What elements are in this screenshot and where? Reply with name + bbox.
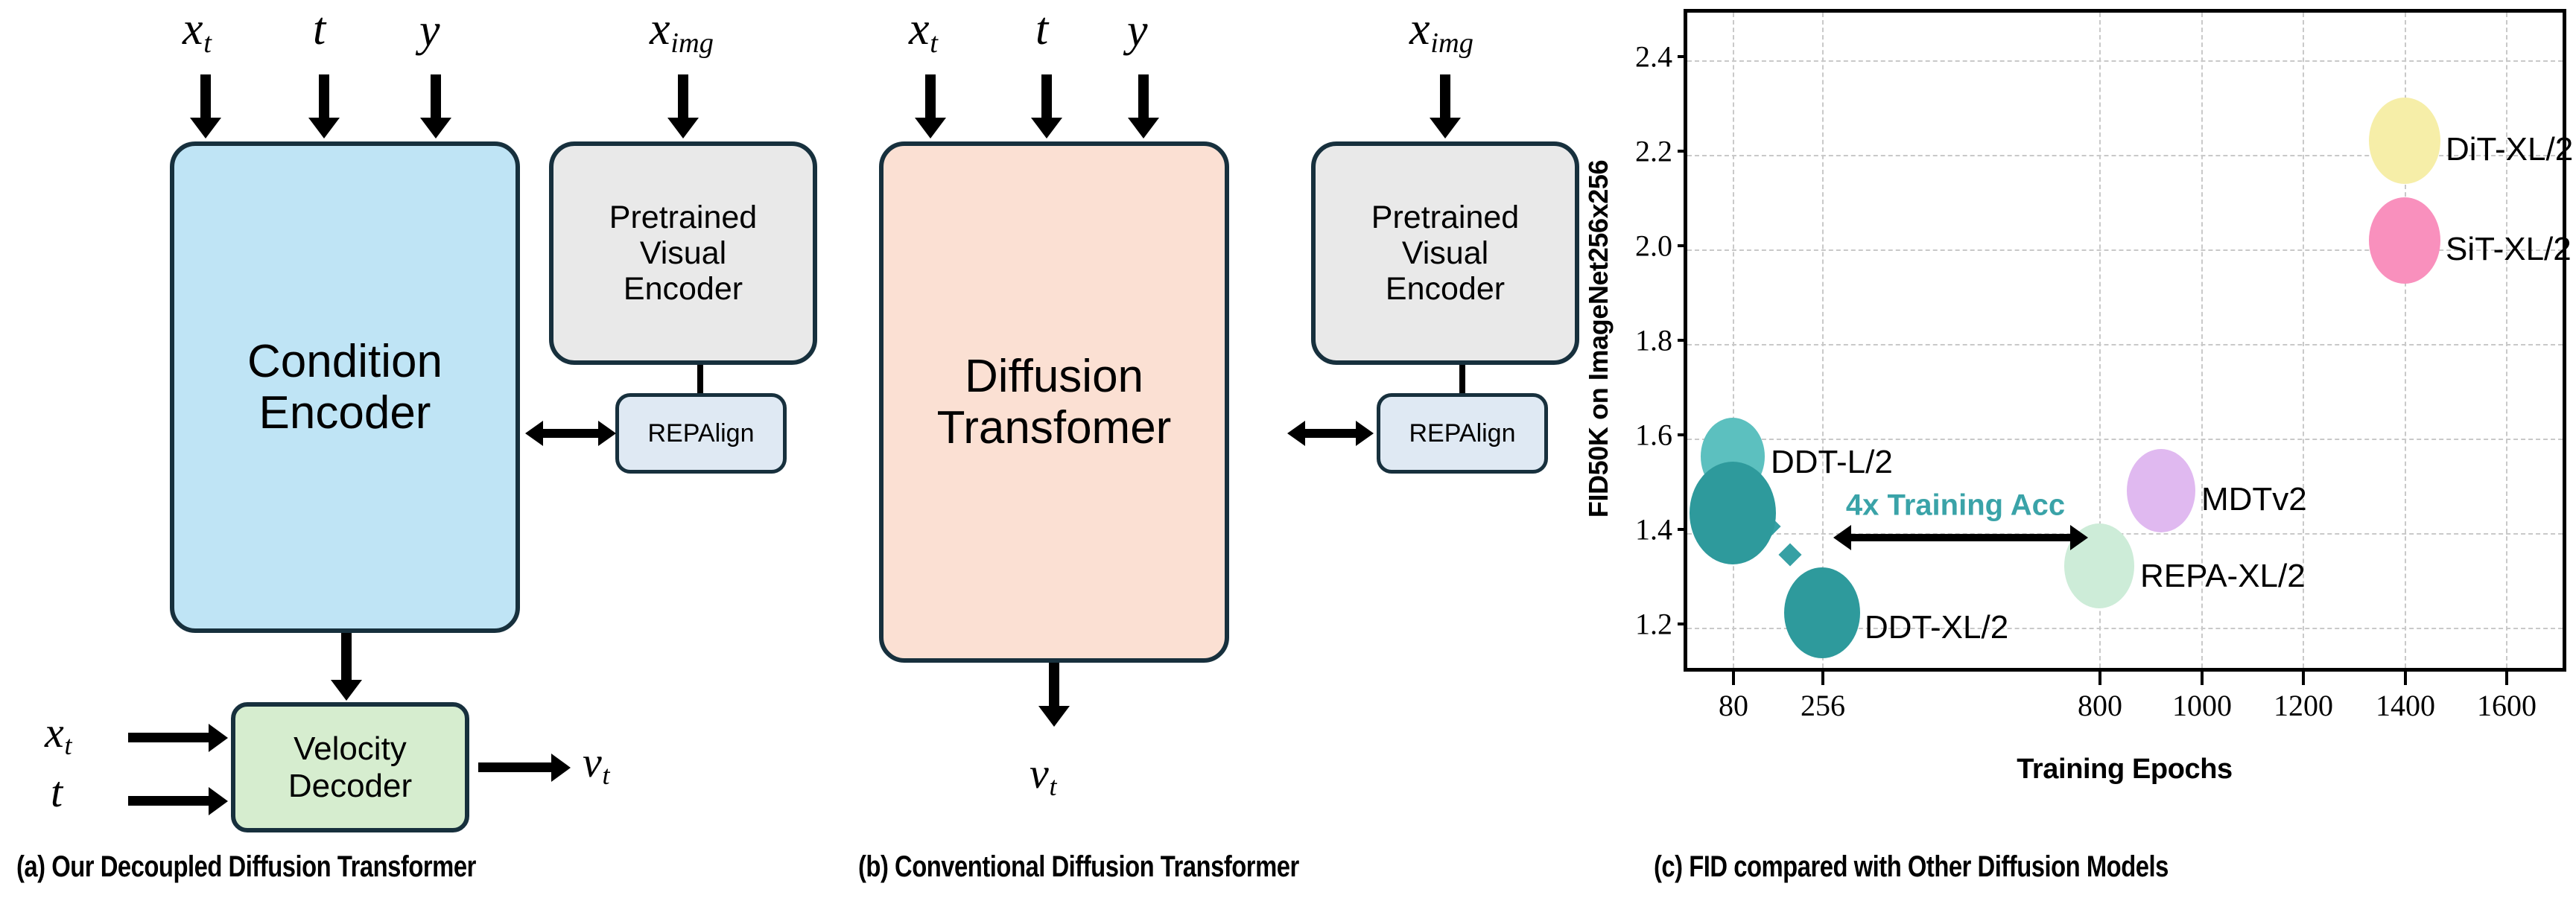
chart-gridline-v-80 <box>1733 13 1734 668</box>
math-label-t-b: t <box>1035 6 1048 52</box>
chart-xtick-mark-800 <box>2098 672 2101 685</box>
chart-ytick-label-1.2: 1.2 <box>1594 607 1672 642</box>
condition-encoder-label-line1: Condition <box>247 336 442 387</box>
chart-xtick-mark-1000 <box>2201 672 2204 685</box>
point-label-repa-xl2: REPA-XL/2 <box>2140 558 2306 595</box>
math-label-xt-a: xt <box>183 6 211 52</box>
connector-visual-encoder-repalign-b <box>1459 365 1465 393</box>
arrow-into-condition-encoder-t <box>319 74 329 119</box>
panel-a: xt t y ximg Condition Encoder Pretrained <box>0 0 842 898</box>
arrow-xt-to-velocity-decoder <box>128 733 210 742</box>
chart-gridline-h-1.6 <box>1687 439 2563 440</box>
chart-gridline-h-2.4 <box>1687 60 2563 62</box>
repalign-label-a: REPAlign <box>648 419 755 448</box>
math-label-vt-b: vt <box>1030 752 1056 795</box>
chart-xtick-mark-256 <box>1821 672 1824 685</box>
arrow-into-condition-encoder-y <box>431 74 441 119</box>
pretrained-visual-encoder-block-b[interactable]: Pretrained Visual Encoder <box>1311 141 1579 365</box>
visual-encoder-label-line2: Visual <box>609 235 757 271</box>
math-label-y-a: y <box>419 7 440 54</box>
caption-panel-b: (b) Conventional Diffusion Transformer <box>858 850 1299 884</box>
point-label-dit-xl2: DiT-XL/2 <box>2446 131 2573 168</box>
annotation-double-arrow <box>1850 534 2072 541</box>
chart-gridline-v-1600 <box>2506 13 2507 668</box>
bubble-ddt-xl2[interactable] <box>1784 567 1860 658</box>
chart-ytick-label-2.0: 2.0 <box>1594 229 1672 264</box>
visual-encoder-label-line3-b: Encoder <box>1371 271 1519 307</box>
bubble-dit-xl2[interactable] <box>2369 98 2440 184</box>
chart-ytick-label-1.8: 1.8 <box>1594 323 1672 358</box>
chart-ytick-label-1.6: 1.6 <box>1594 418 1672 453</box>
caption-panel-a: (a) Our Decoupled Diffusion Transformer <box>16 850 476 884</box>
annotation-4x-training-acc: 4x Training Acc <box>1846 489 2065 523</box>
chart-xtick-mark-1400 <box>2404 672 2407 685</box>
diffusion-transformer-label-line1: Diffusion <box>937 351 1172 402</box>
condition-encoder-label-line2: Encoder <box>247 387 442 439</box>
chart-xtick-label-800: 800 <box>2078 688 2122 723</box>
arrow-t-to-velocity-decoder <box>128 796 210 806</box>
chart-xtick-mark-80 <box>1732 672 1735 685</box>
arrow-into-condition-encoder-xt <box>200 74 211 119</box>
chart-ytick-label-2.4: 2.4 <box>1594 39 1672 74</box>
math-label-vt-a: vt <box>583 741 609 784</box>
chart-xtick-label-1200: 1200 <box>2274 688 2333 723</box>
chart-xtick-label-1600: 1600 <box>2477 688 2537 723</box>
arrow-condition-encoder-repalign <box>542 429 600 438</box>
velocity-decoder-label-line1: Velocity <box>288 730 412 767</box>
repalign-block-b[interactable]: REPAlign <box>1377 393 1548 474</box>
repalign-label-b: REPAlign <box>1409 419 1516 448</box>
point-label-sit-xl2: SiT-XL/2 <box>2446 231 2572 268</box>
condition-encoder-block-a[interactable]: Condition Encoder <box>170 141 520 633</box>
arrow-diffusion-transformer-to-vt <box>1049 663 1059 707</box>
connector-visual-encoder-repalign <box>697 365 703 393</box>
chart-gridline-h-1.4 <box>1687 533 2563 535</box>
visual-encoder-label-line3: Encoder <box>609 271 757 307</box>
math-label-ximg-b: ximg <box>1409 6 1473 52</box>
chart-xtick-label-1400: 1400 <box>2376 688 2435 723</box>
math-label-xt-b: xt <box>909 6 937 52</box>
point-label-ddt-l2: DDT-L/2 <box>1771 444 1893 481</box>
math-label-ximg-a: ximg <box>650 6 713 52</box>
math-label-xt-decoder: xt <box>45 711 72 754</box>
arrow-into-diffusion-transformer-t <box>1041 74 1052 119</box>
chart-x-axis-label: Training Epochs <box>2017 754 2233 786</box>
panel-c: FID50K on ImageNet256x256 Training Epoch… <box>1594 0 2576 827</box>
chart-xtick-label-80: 80 <box>1719 688 1748 723</box>
math-label-y-b: y <box>1127 7 1148 54</box>
pretrained-visual-encoder-block-a[interactable]: Pretrained Visual Encoder <box>549 141 817 365</box>
arrow-into-diffusion-transformer-xt <box>925 74 936 119</box>
point-label-ddt-xl2: DDT-XL/2 <box>1865 609 2008 646</box>
repalign-block-a[interactable]: REPAlign <box>615 393 787 474</box>
visual-encoder-label-line1-b: Pretrained <box>1371 200 1519 235</box>
chart-plot-area: DDT-L/2 DDT-XL/2 REPA-XL/2 MDTv2 DiT-XL/… <box>1684 9 2566 672</box>
chart-xtick-label-1000: 1000 <box>2172 688 2232 723</box>
chart-gridline-h-1.8 <box>1687 344 2563 345</box>
chart-ytick-label-1.4: 1.4 <box>1594 512 1672 547</box>
velocity-decoder-block[interactable]: Velocity Decoder <box>231 702 469 832</box>
velocity-decoder-label-line2: Decoder <box>288 768 412 804</box>
arrow-into-visual-encoder-b <box>1440 74 1450 119</box>
chart-xtick-mark-1600 <box>2505 672 2508 685</box>
bubble-ddt-xl2-80[interactable] <box>1690 462 1776 564</box>
arrow-velocity-decoder-to-vt <box>478 762 553 772</box>
chart-xtick-label-256: 256 <box>1801 688 1845 723</box>
visual-encoder-label-line2-b: Visual <box>1371 235 1519 271</box>
caption-panel-c: (c) FID compared with Other Diffusion Mo… <box>1654 850 2169 884</box>
diffusion-transformer-block[interactable]: Diffusion Transfomer <box>879 141 1229 663</box>
trend-diamond-2 <box>1778 543 1801 566</box>
chart-xtick-mark-1200 <box>2302 672 2305 685</box>
diffusion-transformer-label-line2: Transfomer <box>937 402 1172 453</box>
visual-encoder-label-line1: Pretrained <box>609 200 757 235</box>
point-label-mdtv2: MDTv2 <box>2201 481 2307 518</box>
arrow-into-visual-encoder-a <box>678 74 688 119</box>
bubble-sit-xl2[interactable] <box>2369 197 2440 284</box>
bubble-mdtv2[interactable] <box>2127 449 2195 532</box>
math-label-t-a: t <box>313 6 326 52</box>
math-label-t-decoder: t <box>51 771 63 814</box>
panel-b: xt t y ximg Diffusion Transfomer Pretrai… <box>842 0 1594 898</box>
arrow-into-diffusion-transformer-y <box>1138 74 1149 119</box>
arrow-diffusion-transformer-repalign <box>1304 429 1357 438</box>
arrow-condition-encoder-to-velocity-decoder <box>341 633 352 681</box>
figure-root: xt t y ximg Condition Encoder Pretrained <box>0 0 2576 898</box>
chart-ytick-label-2.2: 2.2 <box>1594 134 1672 169</box>
